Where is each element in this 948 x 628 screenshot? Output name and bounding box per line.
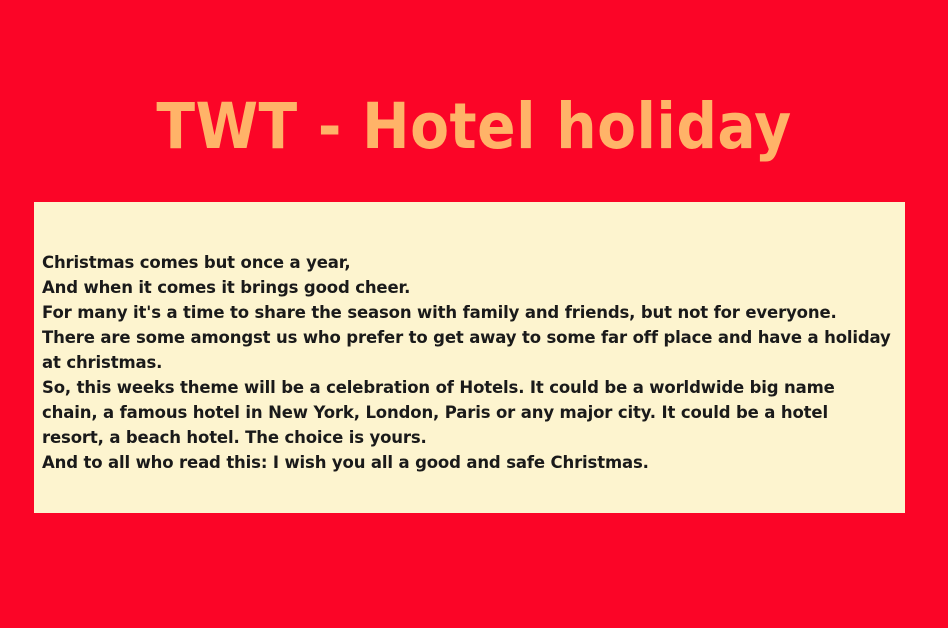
body-line: Christmas comes but once a year,	[42, 250, 893, 275]
poster-canvas: TWT - Hotel holiday Christmas comes but …	[0, 0, 948, 628]
body-line: For many it's a time to share the season…	[42, 300, 893, 375]
body-line: So, this weeks theme will be a celebrati…	[42, 375, 893, 450]
body-line: And when it comes it brings good cheer.	[42, 275, 893, 300]
page-title: TWT - Hotel holiday	[0, 90, 948, 164]
content-card: Christmas comes but once a year, And whe…	[34, 202, 905, 513]
card-body-text: Christmas comes but once a year, And whe…	[42, 250, 893, 475]
body-line: And to all who read this: I wish you all…	[42, 450, 893, 475]
